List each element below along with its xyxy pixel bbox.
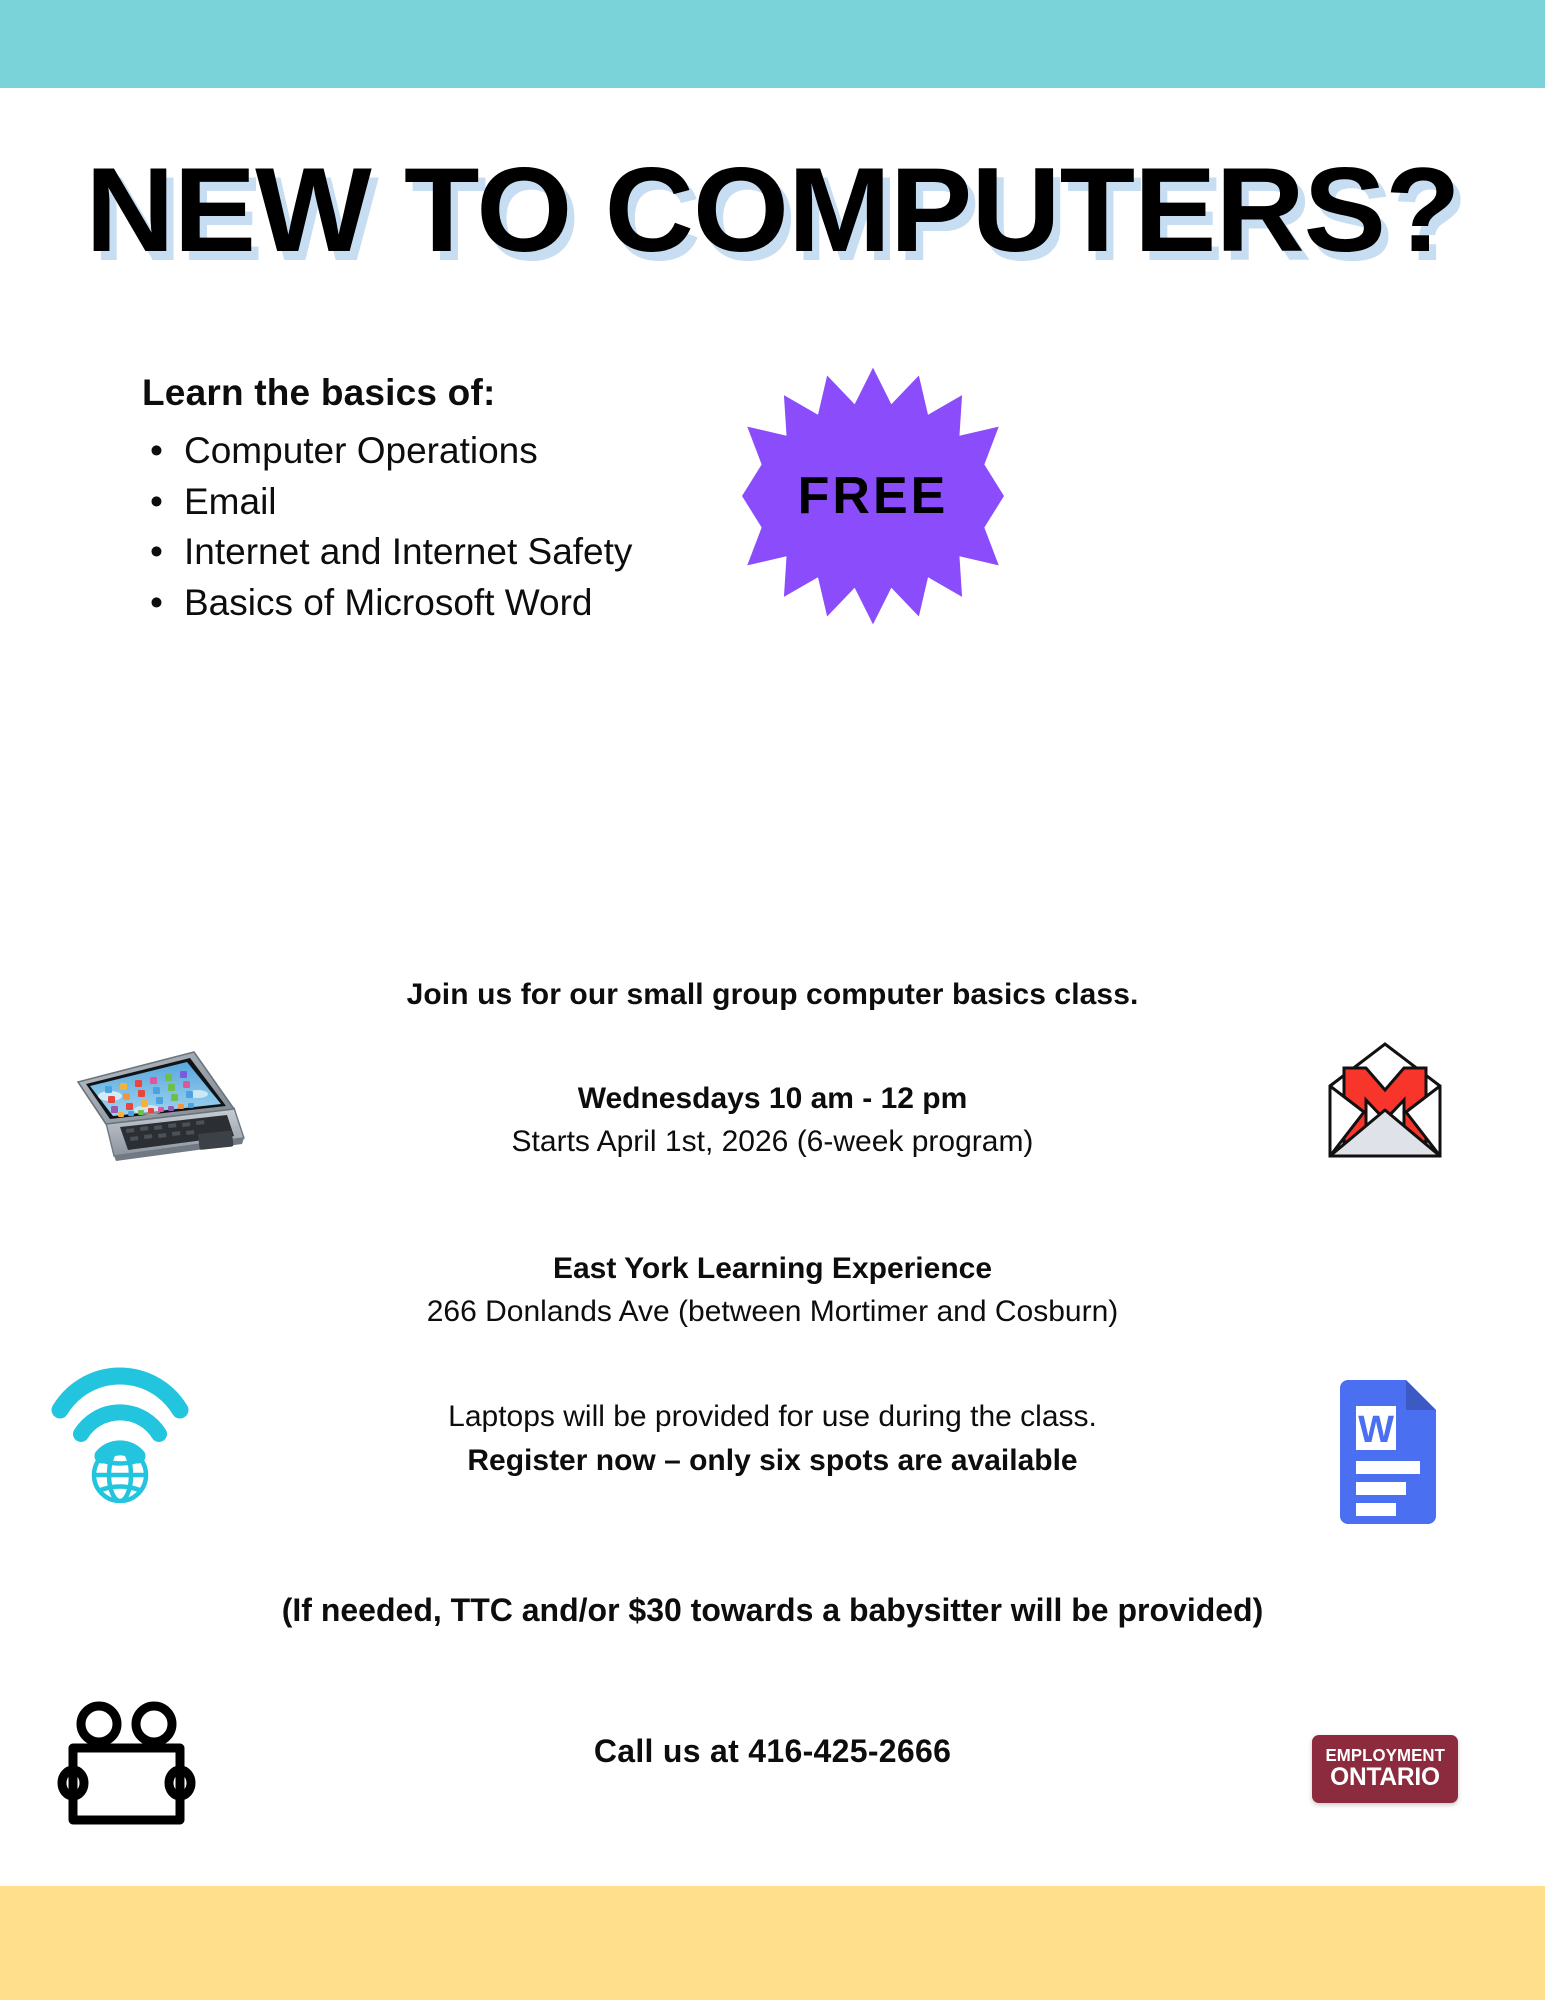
people-sign-icon [48, 1698, 198, 1828]
learn-basics-list: •Computer Operations •Email •Internet an… [142, 426, 782, 629]
free-badge-label: FREE [742, 365, 1004, 627]
join-us-line: Join us for our small group computer bas… [0, 978, 1545, 1012]
venue-address: 266 Donlands Ave (between Mortimer and C… [0, 1291, 1545, 1334]
bullet-icon: • [150, 426, 163, 477]
list-item-label: Basics of Microsoft Word [184, 582, 592, 623]
laptops-register-block: Laptops will be provided for use during … [0, 1395, 1545, 1482]
list-item-label: Email [184, 481, 277, 522]
employment-ontario-logo: EMPLOYMENT ONTARIO [1312, 1735, 1458, 1803]
list-item: •Internet and Internet Safety [184, 527, 782, 578]
bullet-icon: • [150, 527, 163, 578]
bottom-banner [0, 1886, 1545, 2000]
word-document-icon: W [1332, 1378, 1442, 1526]
venue-block: East York Learning Experience 266 Donlan… [0, 1248, 1545, 1333]
flyer-poster: NEW TO COMPUTERS? Learn the basics of: •… [0, 0, 1545, 2000]
learn-basics-block: Learn the basics of: •Computer Operation… [142, 372, 782, 629]
list-item-label: Internet and Internet Safety [184, 531, 632, 572]
word-letter: W [1358, 1409, 1394, 1451]
list-item: •Email [184, 477, 782, 528]
page-title: NEW TO COMPUTERS? [0, 150, 1545, 270]
wifi-globe-icon [48, 1358, 203, 1503]
free-badge: FREE [742, 365, 1004, 627]
top-banner [0, 0, 1545, 88]
gmail-email-icon [1308, 1038, 1463, 1163]
list-item: •Computer Operations [184, 426, 782, 477]
bullet-icon: • [150, 477, 163, 528]
bullet-icon: • [150, 578, 163, 629]
learn-basics-heading: Learn the basics of: [142, 372, 782, 414]
laptops-provided-text: Laptops will be provided for use during … [0, 1395, 1545, 1439]
laptop-icon [48, 1030, 248, 1165]
register-now-text: Register now – only six spots are availa… [0, 1439, 1545, 1483]
list-item-label: Computer Operations [184, 430, 538, 471]
ttc-babysitter-note: (If needed, TTC and/or $30 towards a bab… [0, 1592, 1545, 1629]
venue-name: East York Learning Experience [0, 1248, 1545, 1291]
list-item: •Basics of Microsoft Word [184, 578, 782, 629]
eo-logo-line2: ONTARIO [1330, 1765, 1440, 1791]
